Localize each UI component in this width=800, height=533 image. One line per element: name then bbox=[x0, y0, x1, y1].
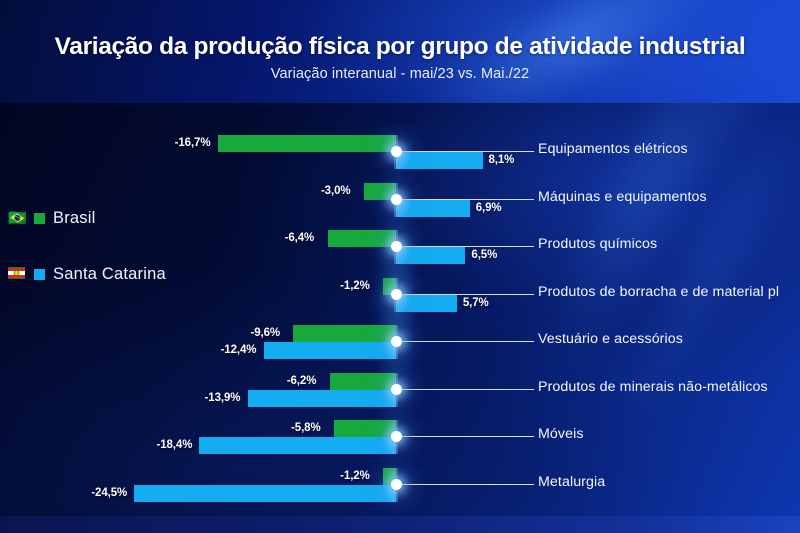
bar-brasil[interactable] bbox=[293, 325, 396, 342]
axis-marker-dot bbox=[391, 479, 402, 490]
chart-title: Variação da produção física por grupo de… bbox=[0, 33, 800, 61]
leader-line bbox=[396, 294, 534, 295]
value-label-santa-catarina: 6,9% bbox=[476, 202, 502, 214]
bar-brasil[interactable] bbox=[330, 373, 396, 390]
bar-santa-catarina[interactable] bbox=[396, 295, 457, 312]
axis-marker-dot bbox=[391, 336, 402, 347]
category-label: Móveis bbox=[538, 426, 584, 442]
value-label-santa-catarina: 6,5% bbox=[471, 249, 497, 261]
axis-marker-dot bbox=[391, 146, 402, 157]
category-label: Produtos químicos bbox=[538, 236, 657, 252]
value-label-santa-catarina: -12,4% bbox=[221, 344, 257, 356]
leader-line bbox=[396, 436, 534, 437]
value-label-santa-catarina: -13,9% bbox=[205, 392, 241, 404]
bar-brasil[interactable] bbox=[218, 135, 396, 152]
bar-brasil[interactable] bbox=[334, 420, 396, 437]
axis-marker-dot bbox=[391, 289, 402, 300]
bar-santa-catarina[interactable] bbox=[134, 485, 396, 502]
bar-brasil[interactable] bbox=[328, 230, 396, 247]
axis-marker-dot bbox=[391, 431, 402, 442]
plot-area: -16,7%8,1%Equipamentos elétricos-3,0%6,9… bbox=[0, 103, 800, 516]
bar-santa-catarina[interactable] bbox=[396, 152, 483, 169]
leader-line bbox=[396, 484, 534, 485]
bar-santa-catarina[interactable] bbox=[199, 437, 396, 454]
leader-line bbox=[396, 389, 534, 390]
bar-row: -5,8%-18,4%Móveis bbox=[0, 420, 800, 472]
bar-santa-catarina[interactable] bbox=[396, 247, 465, 264]
category-label: Máquinas e equipamentos bbox=[538, 189, 707, 205]
bar-row: -9,6%-12,4%Vestuário e acessórios bbox=[0, 325, 800, 377]
axis-marker-dot bbox=[391, 384, 402, 395]
value-label-brasil: -1,2% bbox=[340, 470, 370, 482]
category-label: Vestuário e acessórios bbox=[538, 331, 683, 347]
bar-row: -3,0%6,9%Máquinas e equipamentos bbox=[0, 183, 800, 235]
category-label: Equipamentos elétricos bbox=[538, 141, 688, 157]
chart-subtitle: Variação interanual - mai/23 vs. Mai./22 bbox=[0, 66, 800, 82]
bar-row: -16,7%8,1%Equipamentos elétricos bbox=[0, 135, 800, 187]
value-label-brasil: -3,0% bbox=[321, 185, 351, 197]
chart-canvas: Variação da produção física por grupo de… bbox=[0, 0, 800, 533]
bar-santa-catarina[interactable] bbox=[248, 390, 396, 407]
bar-row: -1,2%5,7%Produtos de borracha e de mater… bbox=[0, 278, 800, 330]
value-label-brasil: -9,6% bbox=[250, 327, 280, 339]
category-label: Produtos de borracha e de material pl bbox=[538, 284, 779, 300]
category-label: Metalurgia bbox=[538, 474, 605, 490]
value-label-brasil: -6,2% bbox=[287, 375, 317, 387]
value-label-brasil: -16,7% bbox=[175, 137, 211, 149]
value-label-santa-catarina: 8,1% bbox=[489, 154, 515, 166]
bar-row: -6,4%6,5%Produtos químicos bbox=[0, 230, 800, 282]
value-label-santa-catarina: 5,7% bbox=[463, 297, 489, 309]
bar-row: -6,2%-13,9%Produtos de minerais não-metá… bbox=[0, 373, 800, 425]
leader-line bbox=[396, 151, 534, 152]
axis-marker-dot bbox=[391, 194, 402, 205]
leader-line bbox=[396, 341, 534, 342]
bottom-band bbox=[0, 516, 800, 533]
bar-santa-catarina[interactable] bbox=[396, 200, 470, 217]
value-label-brasil: -1,2% bbox=[340, 280, 370, 292]
value-label-brasil: -5,8% bbox=[291, 422, 321, 434]
value-label-brasil: -6,4% bbox=[285, 232, 315, 244]
leader-line bbox=[396, 246, 534, 247]
category-label: Produtos de minerais não-metálicos bbox=[538, 379, 768, 395]
value-label-santa-catarina: -24,5% bbox=[91, 487, 127, 499]
bar-row: -1,2%-24,5%Metalurgia bbox=[0, 468, 800, 520]
bar-santa-catarina[interactable] bbox=[264, 342, 396, 359]
chart-header: Variação da produção física por grupo de… bbox=[0, 0, 800, 103]
leader-line bbox=[396, 199, 534, 200]
axis-marker-dot bbox=[391, 241, 402, 252]
value-label-santa-catarina: -18,4% bbox=[156, 439, 192, 451]
